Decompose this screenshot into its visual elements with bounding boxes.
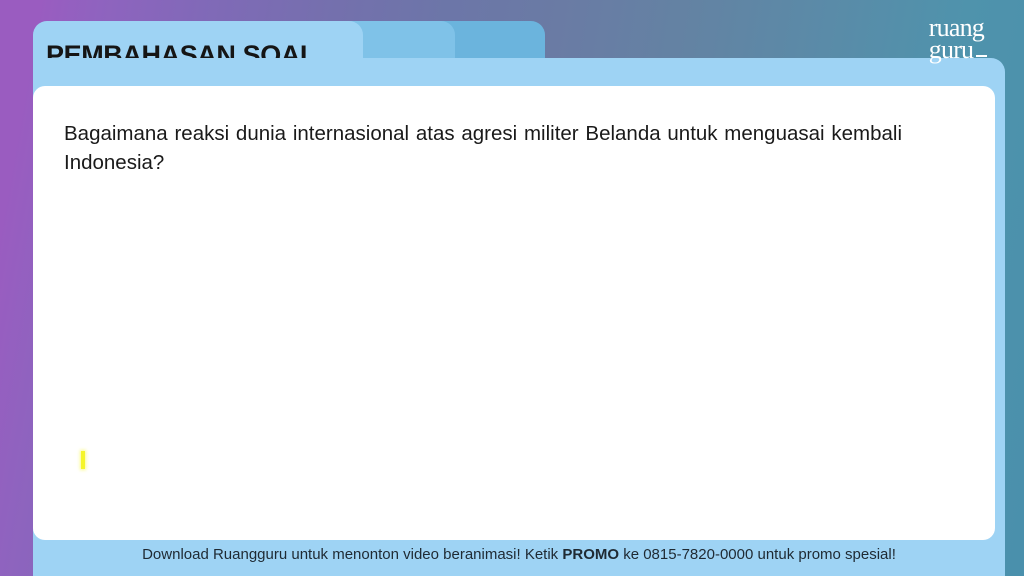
footer-promo-text: Download Ruangguru untuk menonton video … [33,546,1005,563]
footer-text-before: Download Ruangguru untuk menonton video … [142,546,562,563]
content-panel: Bagaimana reaksi dunia internasional ata… [33,86,995,540]
footer-band: Download Ruangguru untuk menonton video … [33,540,1005,576]
footer-text-after: untuk promo spesial! [753,546,896,563]
logo-line-2: guru [929,39,984,61]
ruangguru-logo: ruang guru [929,17,984,62]
footer-promo-keyword: PROMO [562,546,619,563]
footer-phone-number: 0815-7820-0000 [643,546,753,563]
footer-text-middle: ke [619,546,643,563]
question-text: Bagaimana reaksi dunia internasional ata… [64,119,902,177]
answer-text-caret [81,451,85,469]
slide-canvas: PEMBAHASAN SOAL Bagaimana reaksi dunia i… [0,0,1024,576]
